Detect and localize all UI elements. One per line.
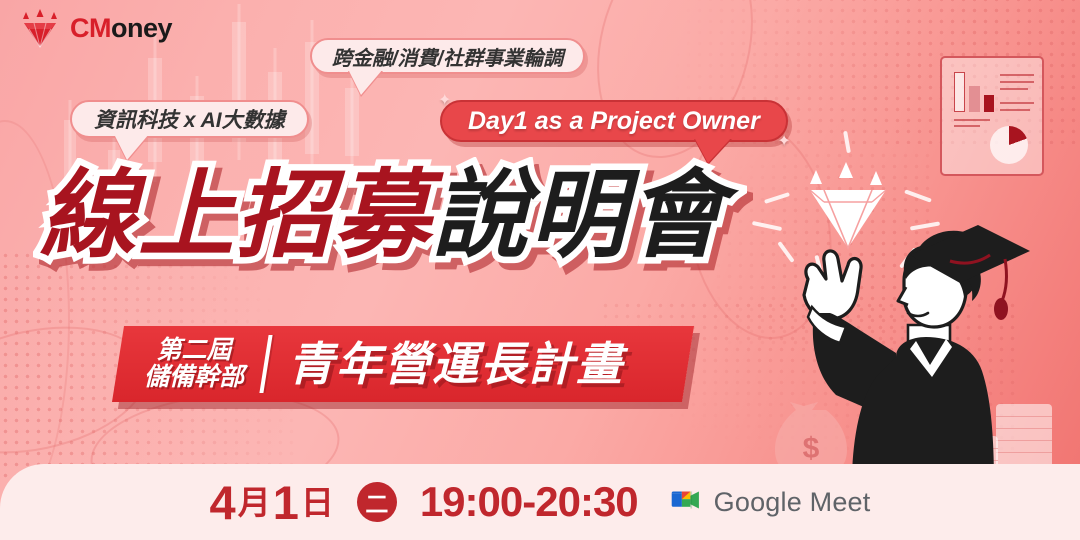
tag-day1-project-owner: ✦ Day1 as a Project Owner ✦ xyxy=(440,100,788,142)
event-time-range: 19:00-20:30 xyxy=(420,478,638,526)
brand-name: CMoney xyxy=(70,13,172,44)
ribbon-ordinal-line2: 儲備幹部 xyxy=(144,364,244,391)
tag-rotation: 跨金融/消費/社群事業輪調 xyxy=(310,38,585,74)
promo-banner: CMoney 資訊科技 x AI大數據 跨金融/消費/社群事業輪調 ✦ Day1… xyxy=(0,0,1080,540)
event-info-bar: 4 月 1 日 二 19:00-20:30 Google Meet xyxy=(0,464,1080,540)
weekday-badge: 二 xyxy=(357,482,397,522)
pie-chart-icon xyxy=(990,126,1028,164)
ribbon-ordinal: 第二屆 儲備幹部 xyxy=(144,337,244,391)
platform-label: Google Meet xyxy=(714,487,871,518)
swirl-line-decoration xyxy=(574,0,775,175)
headline-part-two: 說明會 xyxy=(432,162,726,269)
platform-google-meet: Google Meet xyxy=(670,486,871,519)
bubble-tail-icon xyxy=(114,134,149,160)
graduate-figure-icon xyxy=(800,225,1030,487)
bubble-tail-icon xyxy=(694,137,732,163)
diamond-icon xyxy=(18,6,62,50)
brand-name-secondary: oney xyxy=(111,13,172,43)
program-ribbon: 第二屆 儲備幹部 青年營運長計畫 xyxy=(112,326,694,402)
ribbon-program-name: 青年營運長計畫 xyxy=(288,341,624,387)
tag-label: 跨金融/消費/社群事業輪調 xyxy=(332,42,563,71)
tag-label: 資訊科技 x AI大數據 xyxy=(94,104,285,134)
sparkle-icon: ✦ xyxy=(777,134,790,150)
event-date: 4 月 1 日 xyxy=(210,479,334,526)
cmoney-logo: CMoney xyxy=(18,6,172,50)
sparkle-icon: ✦ xyxy=(438,93,451,109)
event-month: 4 xyxy=(210,479,236,526)
report-document-icon xyxy=(940,56,1044,176)
bubble-tail-icon xyxy=(348,69,383,95)
page-title: 線上招募說明會 xyxy=(40,168,726,264)
tag-it-ai: 資訊科技 x AI大數據 xyxy=(70,100,309,138)
event-day: 1 xyxy=(273,479,299,526)
event-day-unit: 日 xyxy=(301,486,334,519)
headline-part-one: 線上招募 xyxy=(40,162,432,269)
google-meet-icon xyxy=(670,486,704,519)
ribbon-ordinal-line1: 第二屆 xyxy=(144,337,244,364)
brand-name-primary: CM xyxy=(70,13,111,43)
ribbon-divider xyxy=(259,335,272,393)
tag-label: Day1 as a Project Owner xyxy=(468,107,760,136)
event-month-unit: 月 xyxy=(238,486,271,519)
